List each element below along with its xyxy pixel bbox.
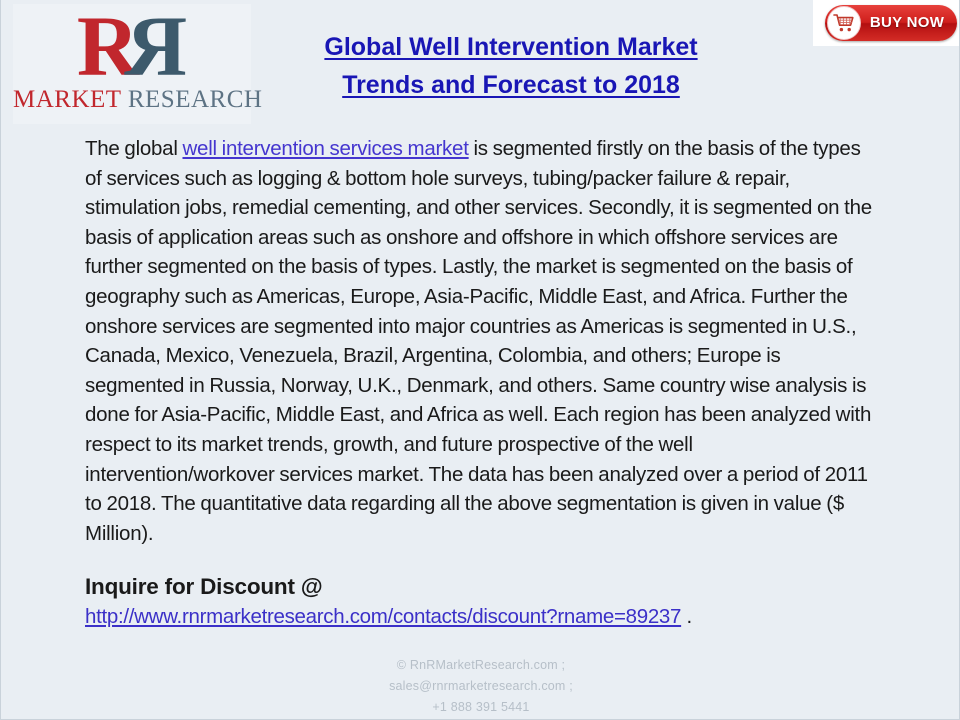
paragraph-text-before-link: The global xyxy=(85,137,182,160)
slide-canvas: RR MARKET RESEARCH Global Well Intervent… xyxy=(0,0,960,720)
footer-copyright: © RnRMarketResearch.com ; xyxy=(1,655,960,676)
logo-word-research: RESEARCH xyxy=(128,86,263,113)
inquire-for-discount-block: Inquire for Discount @ http://www.rnrmar… xyxy=(85,572,885,632)
logo-letter-r-mirrored: R xyxy=(125,4,187,88)
buy-now-button[interactable]: BUY NOW xyxy=(825,5,957,41)
body-copy: The global well intervention services ma… xyxy=(85,134,875,548)
page-title: Global Well Intervention Market Trends a… xyxy=(251,28,771,104)
shopping-cart-icon xyxy=(827,6,861,40)
logo-wordmark: MARKET RESEARCH xyxy=(13,86,251,114)
discount-url-line: http://www.rnrmarketresearch.com/contact… xyxy=(85,602,885,632)
slide-footer: © RnRMarketResearch.com ; sales@rnrmarke… xyxy=(1,655,960,718)
page-title-line-2: Trends and Forecast to 2018 xyxy=(251,66,771,104)
discount-url-suffix: . xyxy=(681,605,692,628)
inquire-for-discount-heading: Inquire for Discount @ xyxy=(85,572,885,602)
page-title-line-1: Global Well Intervention Market xyxy=(251,28,771,66)
footer-email: sales@rnrmarketresearch.com ; xyxy=(1,676,960,697)
slide-header: RR MARKET RESEARCH Global Well Intervent… xyxy=(1,0,960,128)
discount-url-link[interactable]: http://www.rnrmarketresearch.com/contact… xyxy=(85,605,681,628)
logo-word-market: MARKET xyxy=(13,86,121,113)
logo-monogram: RR xyxy=(13,4,251,88)
buy-now-area: BUY NOW xyxy=(813,0,960,46)
well-intervention-services-market-link[interactable]: well intervention services market xyxy=(182,137,468,160)
intro-paragraph: The global well intervention services ma… xyxy=(85,134,875,548)
paragraph-text-after-link: is segmented firstly on the basis of the… xyxy=(85,137,872,545)
buy-now-label: BUY NOW xyxy=(863,5,951,41)
footer-phone: +1 888 391 5441 xyxy=(1,697,960,718)
rnr-market-research-logo: RR MARKET RESEARCH xyxy=(13,4,251,124)
